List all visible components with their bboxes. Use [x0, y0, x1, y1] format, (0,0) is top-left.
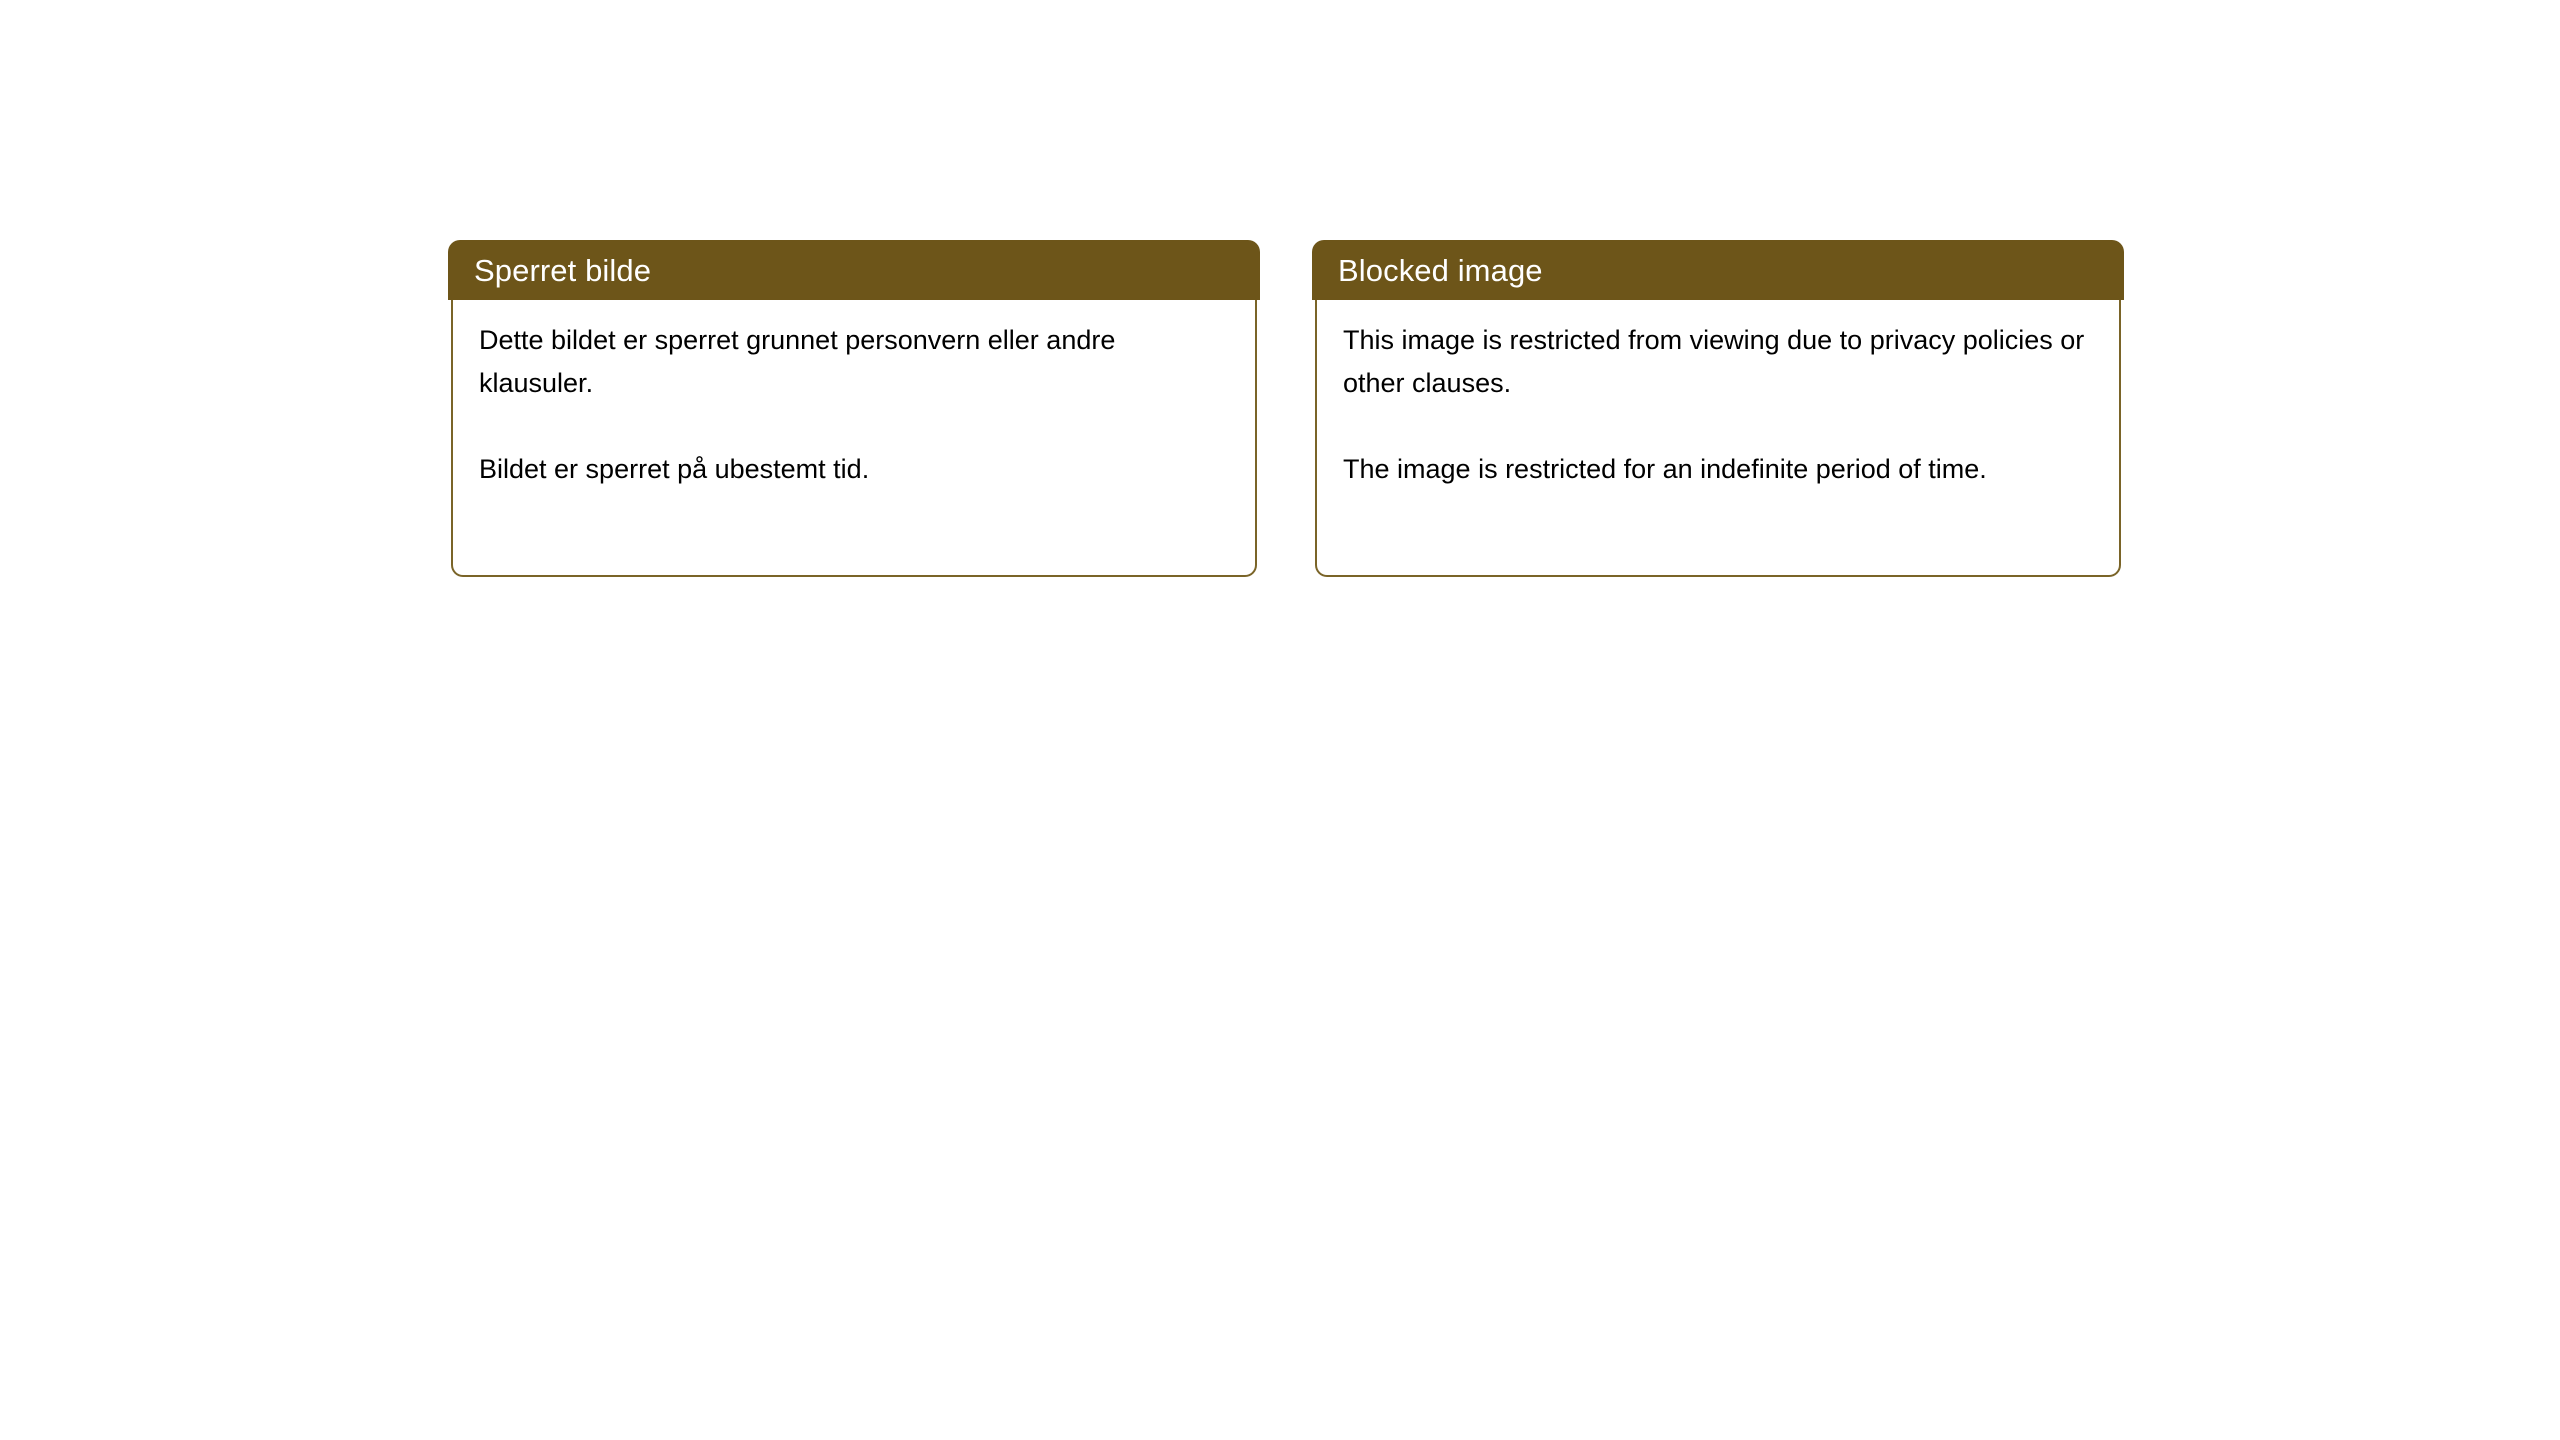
blocked-image-notice-en: Blocked image This image is restricted f… — [1312, 240, 2124, 580]
notice-header-no: Sperret bilde — [448, 240, 1260, 300]
notice-body-en: This image is restricted from viewing du… — [1315, 297, 2121, 577]
page-canvas: Sperret bilde Dette bildet er sperret gr… — [0, 0, 2560, 1440]
notice-paragraph-duration-en: The image is restricted for an indefinit… — [1343, 448, 2093, 491]
notice-body-no: Dette bildet er sperret grunnet personve… — [451, 297, 1257, 577]
notice-title-en: Blocked image — [1338, 255, 1543, 286]
notice-paragraph-reason-en: This image is restricted from viewing du… — [1343, 319, 2093, 405]
blocked-image-notice-no: Sperret bilde Dette bildet er sperret gr… — [448, 240, 1260, 580]
notice-header-en: Blocked image — [1312, 240, 2124, 300]
notice-title-no: Sperret bilde — [474, 255, 651, 286]
notice-paragraph-duration-no: Bildet er sperret på ubestemt tid. — [479, 448, 1229, 491]
notice-paragraph-reason-no: Dette bildet er sperret grunnet personve… — [479, 319, 1229, 405]
